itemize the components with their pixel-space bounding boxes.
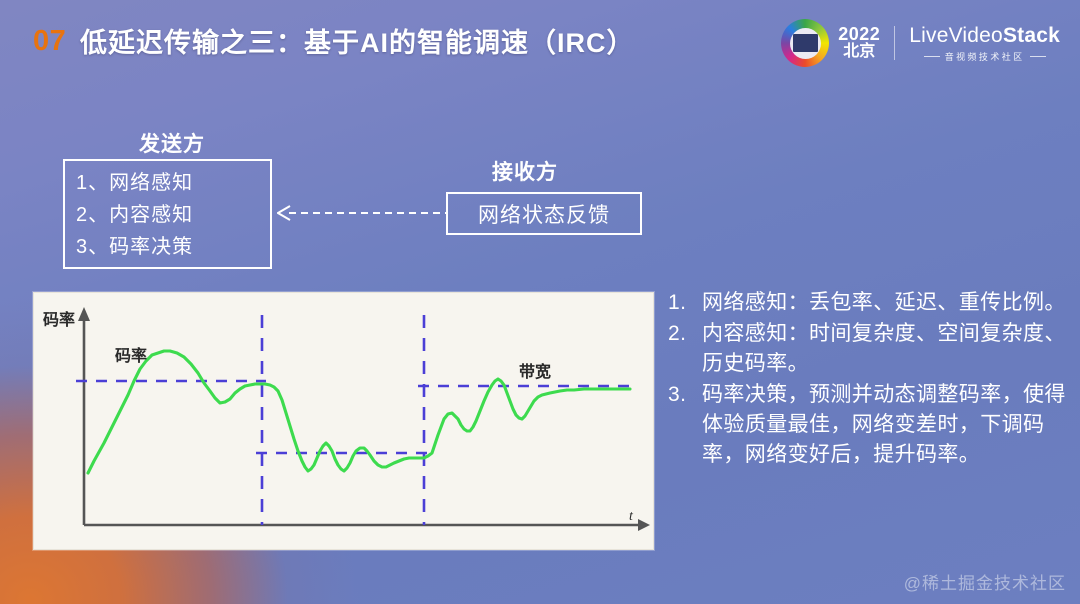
- conference-year-city: 2022 北京: [838, 25, 880, 60]
- list-item-text: 网络感知：丢包率、延迟、重传比例。: [702, 288, 1072, 318]
- bitrate-chart: [34, 293, 653, 549]
- key-points-list: 1. 网络感知：丢包率、延迟、重传比例。 2. 内容感知：时间复杂度、空间复杂度…: [668, 288, 1072, 471]
- conference-city: 北京: [838, 44, 880, 61]
- brand-stack: Stack: [1003, 24, 1060, 47]
- list-item: 1. 网络感知：丢包率、延迟、重传比例。: [668, 288, 1072, 318]
- receiver-box-label: 网络状态反馈: [478, 199, 610, 229]
- slide-root: 07 低延迟传输之三：基于AI的智能调速（IRC） 2022 北京 LiveVi…: [0, 0, 1080, 604]
- list-item: 3. 码率决策，预测并动态调整码率，使得体验质量最佳，网络变差时，下调码率，网络…: [668, 380, 1072, 470]
- logo-divider: [894, 26, 895, 60]
- brand-logo-cluster: 2022 北京 LiveVideoStack 音视频技术社区: [781, 16, 1060, 70]
- chart-y-axis-label: 码率: [43, 306, 75, 330]
- sender-caption: 发送方: [139, 128, 205, 158]
- feedback-arrow-icon: [277, 203, 447, 223]
- conference-year: 2022: [838, 25, 880, 44]
- receiver-box: 网络状态反馈: [446, 192, 642, 235]
- sender-item-3: 3、码率决策: [76, 231, 270, 263]
- sender-box: 1、网络感知 2、内容感知 3、码率决策: [63, 159, 272, 269]
- brand-subtitle: 音视频技术社区: [909, 50, 1060, 63]
- conference-logo-inner-icon: [793, 34, 818, 52]
- brand-line: LiveVideoStack: [909, 24, 1060, 48]
- chart-x-axis-label: t: [629, 509, 633, 525]
- section-number: 07: [33, 25, 66, 58]
- list-item-number: 1.: [668, 288, 702, 318]
- chart-series-label: 码率: [115, 342, 147, 366]
- list-item: 2. 内容感知：时间复杂度、空间复杂度、历史码率。: [668, 319, 1072, 379]
- brand-live: Live: [909, 24, 948, 47]
- list-item-text: 码率决策，预测并动态调整码率，使得体验质量最佳，网络变差时，下调码率，网络变好后…: [702, 380, 1072, 470]
- list-item-text: 内容感知：时间复杂度、空间复杂度、历史码率。: [702, 319, 1072, 379]
- livevideostack-wordmark: LiveVideoStack 音视频技术社区: [909, 24, 1060, 63]
- list-item-number: 3.: [668, 380, 702, 470]
- sender-item-2: 2、内容感知: [76, 199, 270, 231]
- chart-axes: [78, 307, 650, 531]
- conference-circle-icon: [781, 19, 829, 67]
- sender-item-1: 1、网络感知: [76, 167, 270, 199]
- chart-bandwidth-label: 带宽: [519, 358, 551, 382]
- page-title: 低延迟传输之三：基于AI的智能调速（IRC）: [80, 21, 635, 60]
- bandwidth-change-lines: [262, 315, 424, 525]
- brand-video: Video: [949, 24, 1003, 47]
- bitrate-chart-panel: 码率 码率 带宽 t: [33, 292, 654, 550]
- list-item-number: 2.: [668, 319, 702, 379]
- watermark: @稀土掘金技术社区: [904, 569, 1066, 594]
- receiver-caption: 接收方: [492, 156, 558, 186]
